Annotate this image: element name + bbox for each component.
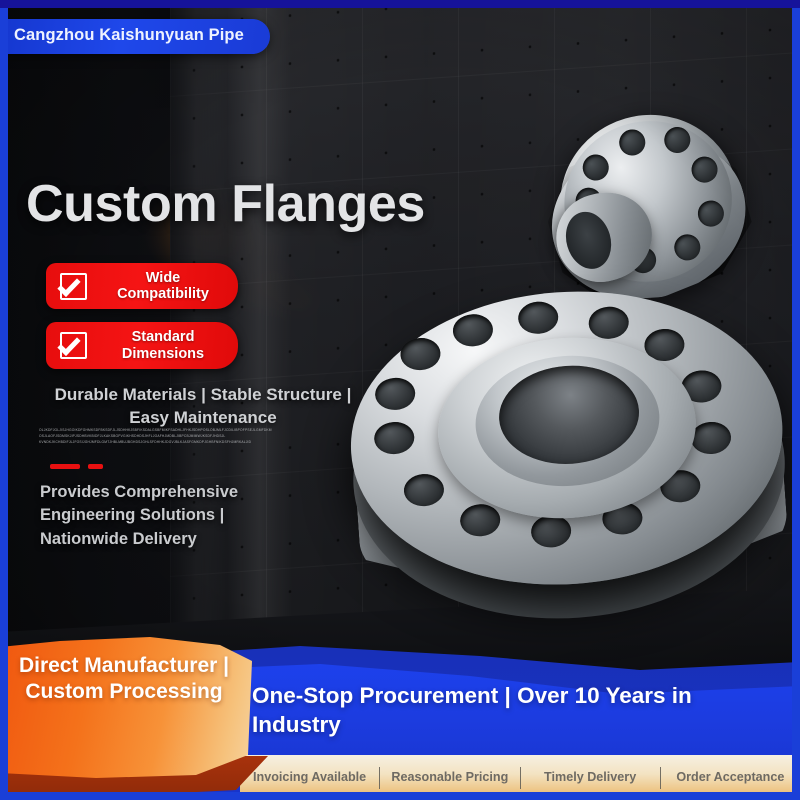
feature-badge-wide-compatibility: Wide Compatibility	[46, 263, 238, 309]
dash-long-icon	[50, 464, 80, 469]
bolt-hole	[403, 473, 445, 508]
bottom-feature-invoicing: Invoicing Available	[240, 770, 379, 786]
feature-separator	[379, 767, 380, 789]
bottom-feature-delivery: Timely Delivery	[521, 770, 660, 786]
weld-neck-bore	[559, 206, 617, 274]
dash-divider	[50, 464, 103, 469]
bottom-feature-strip: Invoicing Available Reasonable Pricing T…	[240, 755, 800, 800]
ribbon-text: Direct Manufacturer | Custom Processing	[6, 653, 242, 706]
orange-ribbon: Direct Manufacturer | Custom Processing	[0, 635, 260, 778]
checkbox-checked-icon	[60, 273, 87, 300]
bolt-hole	[690, 421, 732, 456]
bolt-hole	[616, 126, 648, 158]
feature-separator	[660, 767, 661, 789]
banner-border-top	[0, 0, 800, 8]
feature-badge-standard-dimensions: Standard Dimensions	[46, 322, 238, 368]
checkbox-checked-icon	[60, 332, 87, 359]
bolt-hole	[374, 377, 416, 412]
promotional-banner: Cangzhou Kaishunyuan Pipe Custom Flanges…	[0, 0, 800, 800]
bolt-hole	[530, 514, 572, 549]
feature-badge-label: Wide Compatibility	[100, 270, 226, 302]
fine-print-block: OLJKDFJGLJISJHGOIKDFGHMKSDFBKSDFJLJSDHHK…	[39, 427, 339, 445]
bolt-hole	[517, 300, 559, 335]
bolt-hole	[399, 337, 441, 372]
feature-badge-label: Standard Dimensions	[100, 329, 226, 361]
description-text: Provides Comprehensive Engineering Solut…	[40, 481, 255, 551]
page-title: Custom Flanges	[26, 174, 425, 234]
bolt-hole	[688, 154, 720, 186]
feature-badge-list: Wide Compatibility Standard Dimensions	[46, 263, 238, 369]
bolt-hole	[459, 503, 501, 538]
feature-separator	[520, 767, 521, 789]
slip-on-flange-image	[341, 277, 795, 636]
subtitle-text: Durable Materials | Stable Structure | E…	[38, 384, 368, 430]
bolt-hole	[671, 231, 703, 263]
bolt-hole	[373, 421, 415, 456]
bottom-feature-pricing: Reasonable Pricing	[380, 770, 519, 786]
bolt-hole	[588, 305, 630, 340]
bolt-hole	[452, 313, 494, 348]
bolt-hole	[580, 151, 612, 183]
bottom-feature-order-acceptance: Order Acceptance	[661, 770, 800, 786]
blue-banner-title: One-Stop Procurement | Over 10 Years in …	[252, 682, 772, 740]
dash-short-icon	[88, 464, 103, 469]
company-logo-badge: Cangzhou Kaishunyuan Pipe	[0, 19, 270, 54]
fine-print-line: KVNDKJKCHBDIFJLJFOSIJGHJMFDLGMTJHBLMBUJB…	[39, 439, 339, 445]
bolt-hole	[695, 198, 727, 230]
